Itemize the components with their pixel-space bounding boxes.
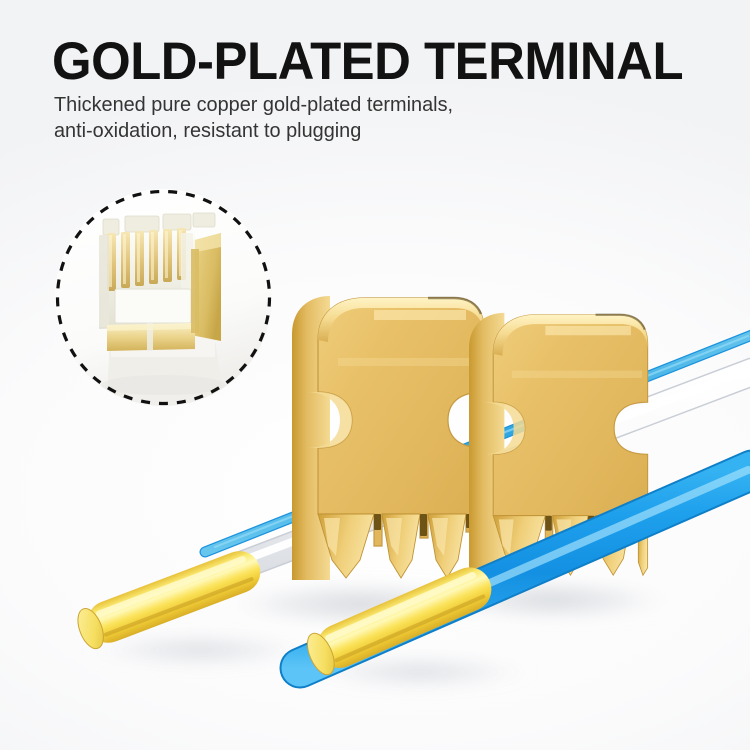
gold-terminal-blade-left xyxy=(292,296,484,580)
product-feature-card: GOLD-PLATED TERMINAL Thickened pure copp… xyxy=(0,0,750,750)
rj45-connector-image xyxy=(55,189,272,406)
connector-inset xyxy=(55,189,272,406)
page-title: GOLD-PLATED TERMINAL xyxy=(52,34,683,90)
rj45-connector-svg xyxy=(55,189,272,406)
page-subtitle: Thickened pure copper gold-plated termin… xyxy=(54,92,453,143)
